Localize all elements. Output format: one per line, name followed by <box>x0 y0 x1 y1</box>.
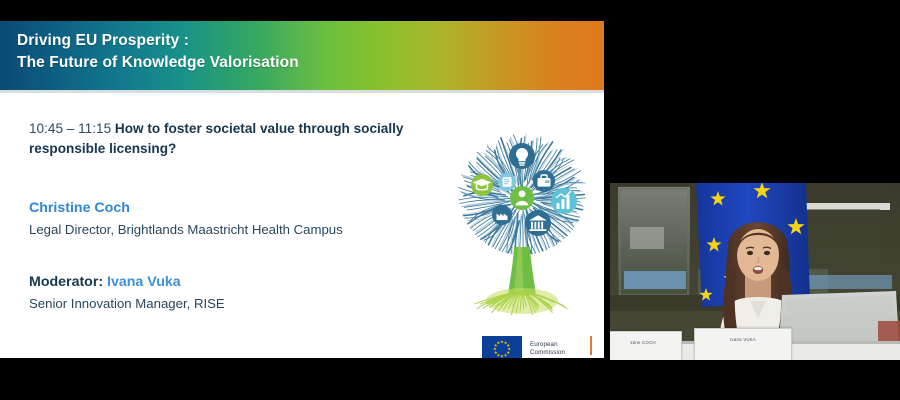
briefcase-icon <box>533 170 555 192</box>
moderator-role: Senior Innovation Manager, RISE <box>29 296 225 311</box>
eu-logo-accent-bar <box>590 336 593 355</box>
document-icon <box>498 173 516 191</box>
lightbulb-icon <box>509 143 535 169</box>
european-commission-logo: European Commission <box>482 331 594 358</box>
placard-right-name: Ivana VUKA <box>695 337 791 342</box>
tree-roots <box>475 288 568 315</box>
moderator-line: Moderator: Ivana Vuka <box>29 274 181 290</box>
factory-icon <box>492 205 512 225</box>
eu-logo-text: European Commission <box>530 341 565 357</box>
slide-header-band: Driving EU Prosperity : The Future of Kn… <box>0 21 604 90</box>
speaker-role: Legal Director, Brightlands Maastricht H… <box>29 222 343 237</box>
name-placard-right: Ivana VUKA <box>694 328 792 360</box>
video-placards: stine COCH Ivana VUKA <box>610 183 900 360</box>
speaker-name: Christine Coch <box>29 200 130 216</box>
screen: Driving EU Prosperity : The Future of Kn… <box>0 0 900 400</box>
slide-title: Driving EU Prosperity : The Future of Kn… <box>17 30 299 74</box>
placard-left-name: stine COCH <box>610 340 681 345</box>
graduation-cap-icon <box>471 174 493 196</box>
person-icon <box>510 186 534 210</box>
bar-chart-icon <box>551 188 577 214</box>
name-placard-left: stine COCH <box>610 331 682 360</box>
knowledge-tree-graphic <box>452 119 592 319</box>
moderator-label: Moderator: <box>29 274 107 290</box>
session-time: 10:45 – 11:15 <box>29 121 115 136</box>
speaker-video-feed[interactable]: stine COCH Ivana VUKA <box>610 183 900 360</box>
bank-building-icon <box>525 210 551 236</box>
slide-body: 10:45 – 11:15 How to foster societal val… <box>0 93 604 358</box>
session-heading: 10:45 – 11:15 How to foster societal val… <box>29 119 419 158</box>
moderator-name: Ivana Vuka <box>107 274 181 290</box>
eu-flag-icon <box>482 336 522 358</box>
presentation-slide: Driving EU Prosperity : The Future of Kn… <box>0 21 604 358</box>
